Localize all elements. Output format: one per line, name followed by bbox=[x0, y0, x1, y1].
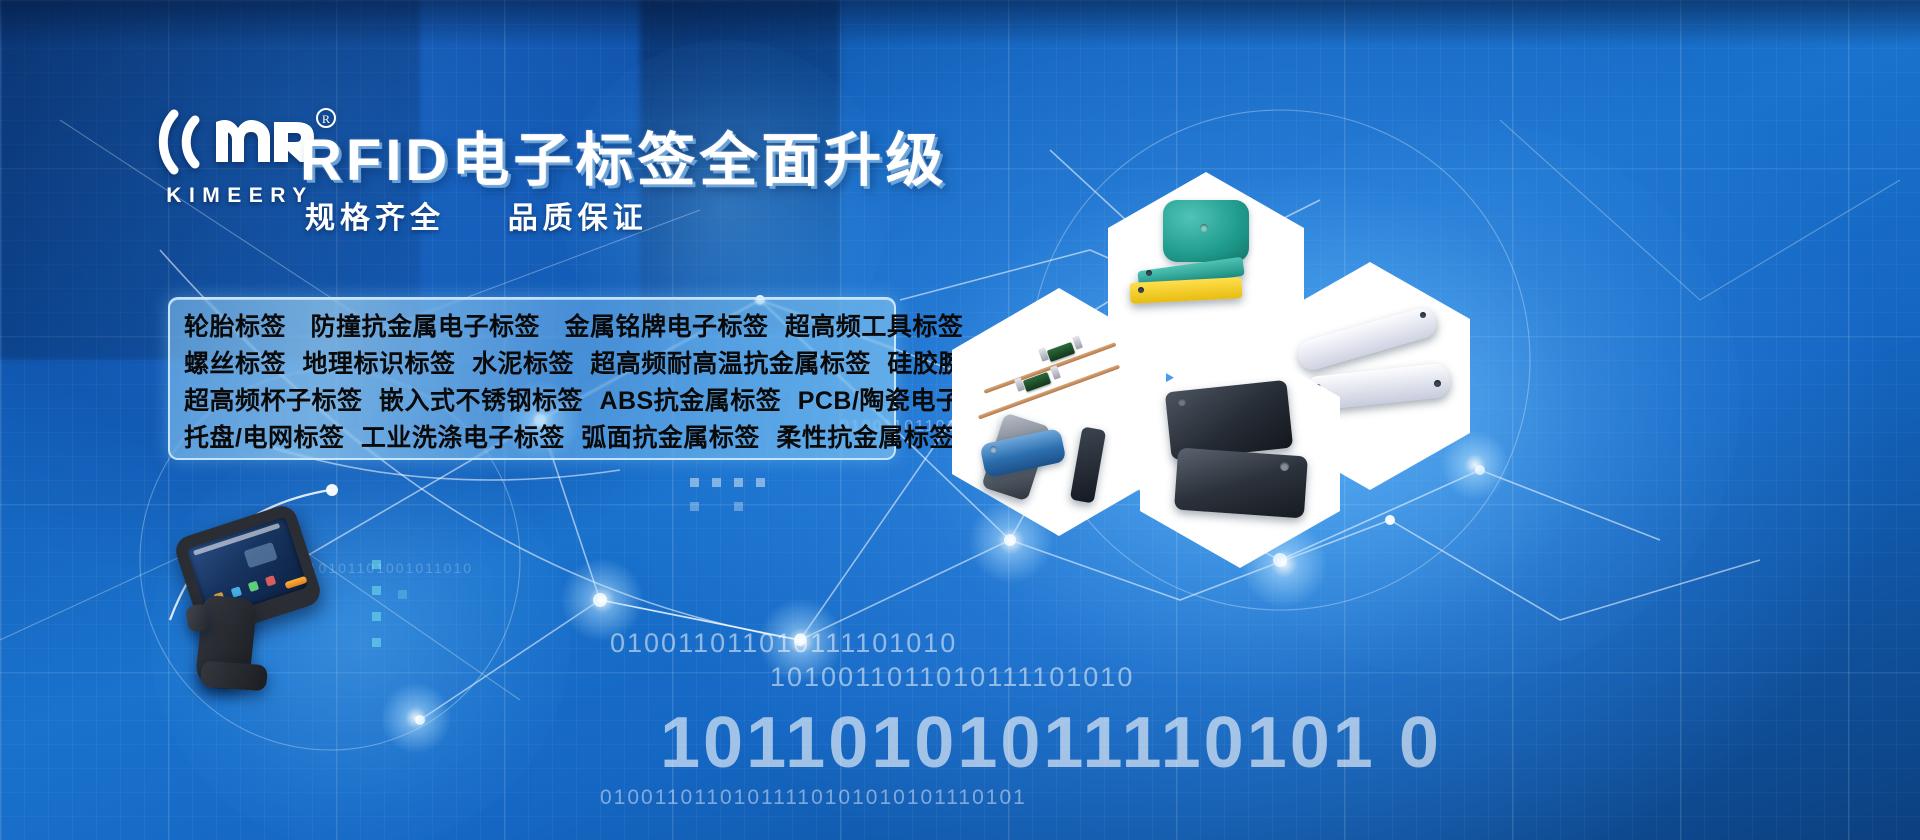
strip-hole-icon bbox=[1146, 270, 1152, 276]
page-title: RFID电子标签全面升级 bbox=[300, 113, 947, 197]
product-item[interactable]: 柔性抗金属标签 bbox=[776, 424, 955, 452]
product-category-panel: 轮胎标签 防撞抗金属电子标签 金属铭牌电子标签 超高频工具标签 螺丝标签 地理标… bbox=[168, 297, 896, 460]
reader-trigger[interactable] bbox=[185, 603, 211, 632]
product-item[interactable]: 超高频工具标签 bbox=[785, 313, 964, 341]
reader-app-icon-3[interactable] bbox=[248, 581, 259, 592]
binary-text-3: 010011011010111101010 bbox=[610, 628, 957, 659]
white-flex-tag-top bbox=[1295, 305, 1440, 373]
reader-app-icon-4[interactable] bbox=[265, 575, 276, 586]
product-item[interactable]: 防撞抗金属电子标签 bbox=[310, 313, 540, 341]
rod-band-lower-2 bbox=[1050, 365, 1061, 380]
product-item[interactable]: 金属铭牌电子标签 bbox=[564, 313, 768, 341]
product-item[interactable]: 托盘/电网标签 bbox=[184, 424, 344, 452]
black-ceramic-bar bbox=[1070, 426, 1106, 503]
binary-text-6: 01001101101011110101010101110101 bbox=[600, 786, 1027, 810]
product-item[interactable]: 地理标识标签 bbox=[302, 350, 455, 378]
subtitle-part-2: 品质保证 bbox=[508, 202, 648, 235]
reader-grip-base bbox=[200, 661, 268, 692]
product-item[interactable]: 轮胎标签 bbox=[184, 313, 286, 341]
rfid-marketing-banner: 110101101001011010 010011011010111101010… bbox=[0, 0, 1920, 840]
product-item[interactable]: 超高频耐高温抗金属标签 bbox=[590, 350, 871, 378]
flex-tag-hole-1 bbox=[1420, 312, 1426, 318]
product-item[interactable]: ABS抗金属标签 bbox=[599, 387, 781, 415]
product-item[interactable]: 水泥标签 bbox=[472, 350, 574, 378]
rod-band-upper-2 bbox=[1072, 335, 1083, 350]
reader-app-icon-2[interactable] bbox=[231, 586, 242, 597]
abs-tag-hole bbox=[990, 446, 997, 453]
binary-text-5: 10110101011110101 0 bbox=[660, 702, 1442, 784]
yellow-strip-tag bbox=[1130, 277, 1243, 304]
product-item[interactable]: 弧面抗金属标签 bbox=[581, 424, 760, 452]
page-subtitle: 规格齐全 品质保证 bbox=[305, 193, 648, 237]
flex-tag-hole-3 bbox=[1434, 380, 1441, 387]
product-row-3: 超高频杯子标签 嵌入式不锈钢标签 ABS抗金属标签 PCB/陶瓷电子标签 bbox=[184, 383, 894, 420]
rod-tag-lower bbox=[978, 364, 1120, 419]
pcb-tag-hole bbox=[1178, 398, 1186, 406]
product-item[interactable]: 工业洗涤电子标签 bbox=[361, 424, 565, 452]
product-item[interactable]: 超高频杯子标签 bbox=[184, 387, 363, 415]
product-row-1: 轮胎标签 防撞抗金属电子标签 金属铭牌电子标签 超高频工具标签 bbox=[184, 309, 894, 346]
yellow-hole-icon bbox=[1138, 287, 1144, 293]
disc-hole-icon bbox=[1200, 224, 1208, 232]
product-row-2: 螺丝标签 地理标识标签 水泥标签 超高频耐高温抗金属标签 硅胶腕带 bbox=[184, 346, 894, 383]
product-row-4: 托盘/电网标签 工业洗涤电子标签 弧面抗金属标签 柔性抗金属标签 bbox=[184, 420, 894, 457]
binary-text-4: 1010011011010111101010 bbox=[770, 662, 1134, 693]
product-item[interactable]: 嵌入式不锈钢标签 bbox=[379, 387, 583, 415]
anti-metal-hole bbox=[1280, 462, 1289, 471]
rfid-handheld-reader[interactable] bbox=[165, 505, 380, 690]
dark-anti-metal-tag bbox=[1174, 448, 1308, 519]
reader-widget bbox=[244, 542, 278, 568]
subtitle-part-1: 规格齐全 bbox=[305, 202, 445, 235]
product-item[interactable]: 螺丝标签 bbox=[184, 350, 286, 378]
